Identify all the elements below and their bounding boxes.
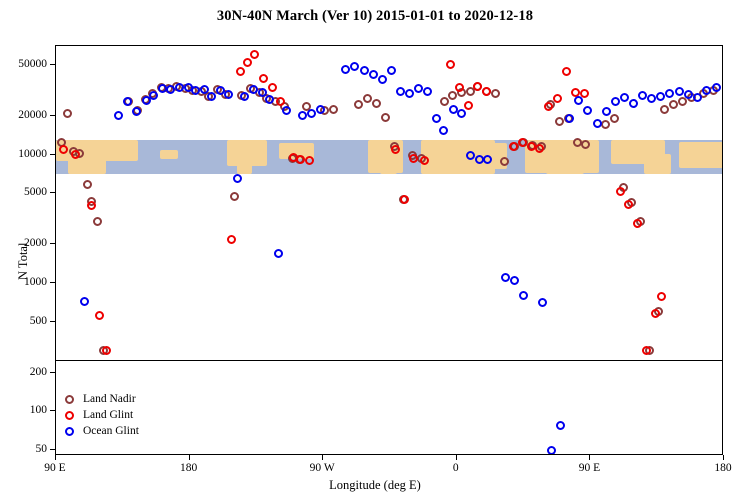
data-point	[624, 200, 633, 209]
data-point	[457, 109, 466, 118]
data-point	[329, 105, 338, 114]
y-tick-label: 10000	[18, 148, 47, 160]
data-point	[236, 67, 245, 76]
data-point	[547, 446, 556, 455]
data-point	[562, 67, 571, 76]
y-tick-label: 50	[36, 443, 48, 455]
data-point	[369, 70, 378, 79]
data-point	[651, 309, 660, 318]
data-point	[95, 311, 104, 320]
data-point	[660, 105, 669, 114]
data-point	[224, 90, 233, 99]
data-point	[276, 97, 285, 106]
y-tick-mark	[50, 449, 55, 450]
data-point	[446, 60, 455, 69]
y-tick-mark	[50, 154, 55, 155]
data-point	[657, 292, 666, 301]
data-point	[249, 85, 258, 94]
legend-label: Land Nadir	[83, 391, 136, 407]
data-point	[149, 91, 158, 100]
data-point	[482, 87, 491, 96]
data-point	[556, 421, 565, 430]
data-point	[583, 106, 592, 115]
data-point	[466, 151, 475, 160]
data-point	[80, 297, 89, 306]
landmass-shape	[546, 155, 585, 174]
data-point	[665, 89, 674, 98]
data-point	[405, 89, 414, 98]
data-point	[693, 93, 702, 102]
y-tick-mark	[50, 115, 55, 116]
data-point	[712, 83, 721, 92]
data-point	[448, 91, 457, 100]
data-point	[102, 346, 111, 355]
landmass-shape	[644, 154, 671, 175]
y-axis-label: N Total	[16, 243, 31, 280]
data-point	[491, 89, 500, 98]
landmass-shape	[380, 157, 398, 174]
data-point	[282, 106, 291, 115]
data-point	[475, 155, 484, 164]
data-point	[573, 138, 582, 147]
data-point	[565, 114, 574, 123]
data-point	[83, 180, 92, 189]
y-tick-label: 500	[30, 315, 47, 327]
x-tick-mark	[456, 455, 457, 460]
x-tick-label: 180	[180, 462, 197, 474]
data-point	[423, 87, 432, 96]
data-point	[420, 156, 429, 165]
x-tick-mark	[55, 455, 56, 460]
data-point	[175, 83, 184, 92]
data-point	[702, 86, 711, 95]
data-point	[233, 174, 242, 183]
x-axis-label: Longitude (deg E)	[0, 478, 750, 493]
data-point	[501, 273, 510, 282]
legend-label: Ocean Glint	[83, 423, 139, 439]
x-tick-mark	[189, 455, 190, 460]
data-point	[268, 83, 277, 92]
data-point	[243, 58, 252, 67]
data-point	[574, 96, 583, 105]
data-point	[372, 99, 381, 108]
legend-marker-icon	[65, 427, 74, 436]
data-point	[230, 192, 239, 201]
data-point	[527, 142, 536, 151]
data-point	[601, 120, 610, 129]
data-point	[544, 102, 553, 111]
data-point	[432, 114, 441, 123]
x-tick-label: 90 E	[579, 462, 600, 474]
data-point	[59, 145, 68, 154]
data-point	[656, 92, 665, 101]
data-point	[71, 150, 80, 159]
data-point	[509, 142, 518, 151]
data-point	[414, 84, 423, 93]
y-tick-label: 200	[30, 366, 47, 378]
y-tick-mark	[50, 243, 55, 244]
data-point	[240, 92, 249, 101]
data-point	[473, 82, 482, 91]
threshold-line	[56, 360, 722, 361]
y-tick-mark	[50, 64, 55, 65]
plot-area	[55, 45, 723, 455]
data-point	[360, 66, 369, 75]
data-point	[350, 62, 359, 71]
data-point	[93, 217, 102, 226]
data-point	[510, 276, 519, 285]
data-point	[500, 157, 509, 166]
data-point	[409, 154, 418, 163]
data-point	[675, 87, 684, 96]
data-point	[114, 111, 123, 120]
data-point	[669, 100, 678, 109]
landmass-shape	[237, 159, 252, 175]
x-tick-label: 90 W	[310, 462, 335, 474]
data-point	[265, 95, 274, 104]
landmass-shape	[679, 142, 723, 168]
data-point	[553, 94, 562, 103]
data-point	[642, 346, 651, 355]
data-point	[684, 90, 693, 99]
y-tick-mark	[50, 282, 55, 283]
data-point	[87, 201, 96, 210]
data-point	[616, 187, 625, 196]
y-tick-label: 100	[30, 404, 47, 416]
x-tick-mark	[589, 455, 590, 460]
data-point	[316, 105, 325, 114]
data-point	[610, 114, 619, 123]
x-tick-label: 0	[453, 462, 459, 474]
data-point	[464, 101, 473, 110]
x-tick-mark	[723, 455, 724, 460]
data-point	[620, 93, 629, 102]
data-point	[518, 138, 527, 147]
y-tick-label: 50000	[18, 58, 47, 70]
landmass-shape	[160, 150, 178, 159]
data-point	[387, 66, 396, 75]
data-point	[439, 126, 448, 135]
data-point	[259, 74, 268, 83]
data-point	[298, 111, 307, 120]
x-tick-label: 180	[714, 462, 731, 474]
data-point	[191, 86, 200, 95]
data-point	[250, 50, 259, 59]
data-point	[63, 109, 72, 118]
data-point	[638, 91, 647, 100]
data-point	[307, 109, 316, 118]
x-tick-mark	[322, 455, 323, 460]
legend-marker-icon	[65, 411, 74, 420]
data-point	[381, 113, 390, 122]
y-tick-mark	[50, 192, 55, 193]
data-point	[123, 97, 132, 106]
data-point	[629, 99, 638, 108]
data-point	[633, 219, 642, 228]
data-point	[611, 97, 620, 106]
y-tick-mark	[50, 321, 55, 322]
data-point	[400, 195, 409, 204]
data-point	[647, 94, 656, 103]
data-point	[538, 298, 547, 307]
y-tick-mark	[50, 410, 55, 411]
data-point	[166, 85, 175, 94]
data-point	[341, 65, 350, 74]
data-point	[274, 249, 283, 258]
data-point	[363, 94, 372, 103]
data-point	[227, 235, 236, 244]
y-tick-label: 5000	[24, 186, 47, 198]
chart-title: 30N-40N March (Ver 10) 2015-01-01 to 202…	[0, 8, 750, 25]
data-point	[378, 75, 387, 84]
data-point	[396, 87, 405, 96]
data-point	[354, 100, 363, 109]
data-point	[132, 107, 141, 116]
y-tick-label: 20000	[18, 109, 47, 121]
legend-label: Land Glint	[83, 407, 133, 423]
x-tick-label: 90 E	[44, 462, 65, 474]
data-point	[519, 291, 528, 300]
data-point	[555, 117, 564, 126]
legend-marker-icon	[65, 395, 74, 404]
chart-root: 30N-40N March (Ver 10) 2015-01-01 to 202…	[0, 0, 750, 500]
y-tick-mark	[50, 372, 55, 373]
data-point	[207, 92, 216, 101]
